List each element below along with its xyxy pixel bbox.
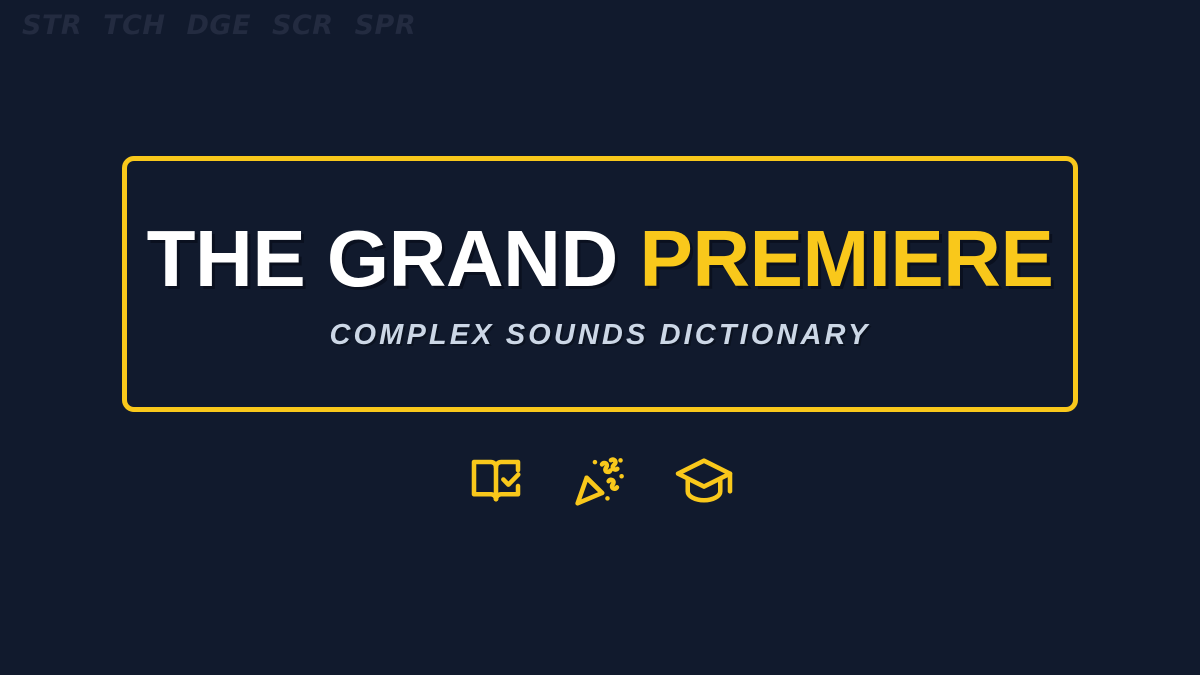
page-subtitle: COMPLEX SOUNDS DICTIONARY: [329, 321, 870, 350]
page-title-main: THE GRAND: [147, 214, 640, 303]
title-card-frame: THE GRAND PREMIERE COMPLEX SOUNDS DICTIO…: [122, 156, 1078, 412]
party-popper-icon-glyph: [568, 448, 632, 512]
phoneme-strip: STR TCH DGE SCR SPR: [22, 12, 416, 39]
page-title: THE GRAND PREMIERE: [147, 219, 1054, 299]
graduation-cap-icon: [670, 446, 738, 514]
title-slide: STR TCH DGE SCR SPR THE GRAND PREMIERE C…: [0, 0, 1200, 675]
phoneme-spr: SPR: [355, 12, 417, 39]
book-check-icon: [462, 446, 530, 514]
phoneme-scr: SCR: [272, 12, 334, 39]
book-check-icon-glyph: [464, 448, 528, 512]
party-popper-icon: [566, 446, 634, 514]
icon-row: [0, 446, 1200, 514]
page-title-accent: PREMIERE: [639, 214, 1053, 303]
phoneme-tch: TCH: [103, 12, 165, 39]
phoneme-str: STR: [22, 12, 82, 39]
phoneme-dge: DGE: [187, 12, 252, 39]
graduation-cap-icon-glyph: [672, 448, 736, 512]
